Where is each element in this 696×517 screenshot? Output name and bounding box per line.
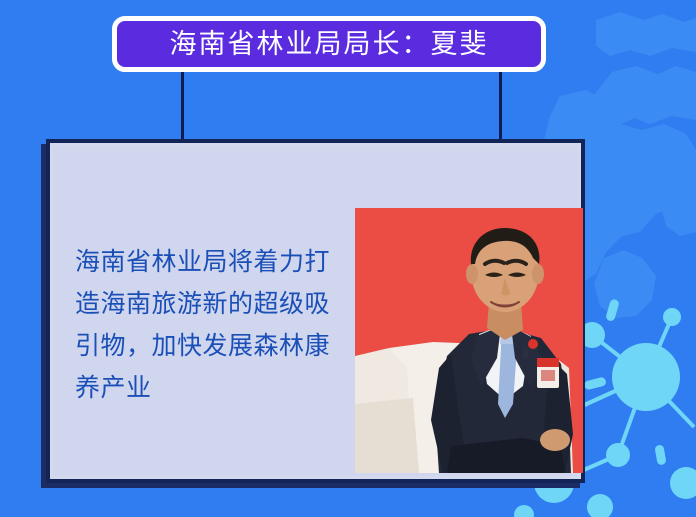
infographic-canvas: 海南省林业局将着力打造海南旅游新的超级吸引物，加快发展森林康养产业 <box>0 0 696 517</box>
portrait-photo <box>355 208 583 473</box>
title-banner-text: 海南省林业局局长：夏斐 <box>170 31 489 58</box>
card-body-text: 海南省林业局将着力打造海南旅游新的超级吸引物，加快发展森林康养产业 <box>75 241 355 409</box>
content-card-inner: 海南省林业局将着力打造海南旅游新的超级吸引物，加快发展森林康养产业 <box>50 143 581 479</box>
title-banner: 海南省林业局局长：夏斐 <box>112 16 546 72</box>
content-card: 海南省林业局将着力打造海南旅游新的超级吸引物，加快发展森林康养产业 <box>46 139 585 483</box>
